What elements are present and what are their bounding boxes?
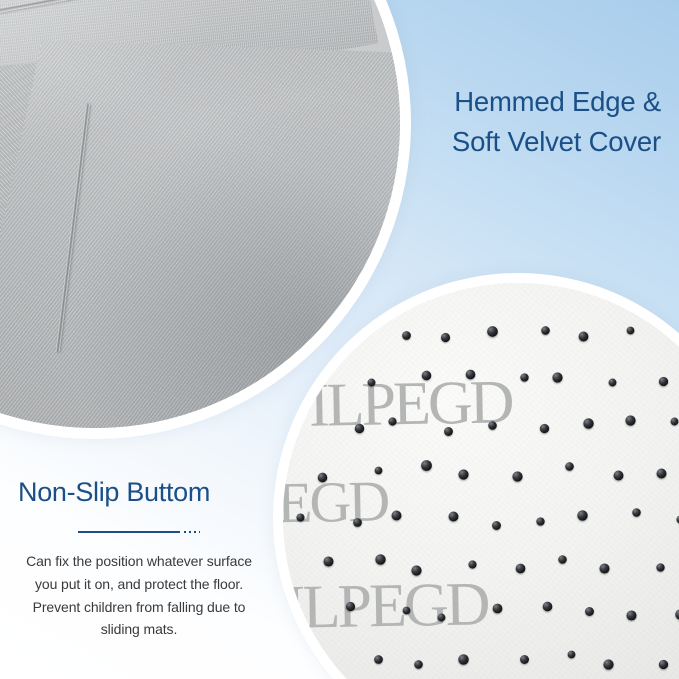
non-slip-dot <box>656 564 664 572</box>
non-slip-dot <box>516 563 526 573</box>
non-slip-heading: Non-Slip Buttom <box>8 476 270 508</box>
non-slip-dot <box>367 378 375 386</box>
non-slip-body-line: you put it on, and protect the floor. <box>8 573 270 596</box>
non-slip-dot <box>487 326 498 337</box>
non-slip-dot <box>578 332 588 342</box>
non-slip-text-block: Non-Slip Buttom Can fix the position wha… <box>8 476 270 641</box>
non-slip-dot <box>537 517 545 525</box>
non-slip-dot <box>318 473 328 483</box>
hemmed-edge-heading-line-2: Soft Velvet Cover <box>341 122 661 162</box>
non-slip-dot <box>324 556 334 566</box>
non-slip-dot <box>625 415 635 425</box>
non-slip-dot <box>391 511 401 521</box>
non-slip-dot <box>603 660 613 670</box>
non-slip-dot <box>614 470 624 480</box>
non-slip-dot <box>444 427 453 436</box>
non-slip-dot <box>552 373 562 383</box>
divider <box>8 522 270 544</box>
hemmed-edge-heading-line-1: Hemmed Edge & <box>341 82 661 122</box>
non-slip-dot <box>421 370 431 380</box>
non-slip-dot <box>632 508 641 517</box>
non-slip-dot <box>355 423 365 433</box>
non-slip-dot <box>513 472 523 482</box>
non-slip-dot <box>659 377 668 386</box>
non-slip-dot <box>346 602 355 611</box>
non-slip-dot <box>521 373 529 381</box>
non-slip-dot <box>437 613 445 621</box>
non-slip-dot <box>458 654 469 665</box>
non-slip-dot <box>565 462 574 471</box>
non-slip-dot-pattern <box>283 283 679 679</box>
non-slip-dot <box>541 326 550 335</box>
non-slip-dot <box>441 333 450 342</box>
non-slip-dot <box>375 467 383 475</box>
non-slip-dot <box>353 518 362 527</box>
non-slip-dot <box>542 602 552 612</box>
non-slip-dot <box>297 513 305 521</box>
non-slip-dot <box>657 469 667 479</box>
non-slip-dot <box>540 424 549 433</box>
non-slip-dot <box>520 655 529 664</box>
non-slip-dot <box>626 326 634 334</box>
non-slip-dot <box>600 563 610 573</box>
divider-dots <box>184 531 200 533</box>
non-slip-dot <box>412 565 422 575</box>
non-slip-dot <box>577 510 587 520</box>
non-slip-dot <box>671 418 679 426</box>
non-slip-dot <box>492 521 501 530</box>
non-slip-body-line: Can fix the position whatever surface <box>8 550 270 573</box>
non-slip-dot <box>568 651 576 659</box>
non-slip-dot <box>388 418 396 426</box>
non-slip-dot <box>458 469 468 479</box>
non-slip-dot <box>421 461 432 472</box>
non-slip-dot <box>374 655 383 664</box>
non-slip-dot <box>583 418 593 428</box>
non-slip-dot <box>488 421 497 430</box>
product-feature-graphic: ILPEGD ILPEGD ILPEGD Hemmed Edge & Soft … <box>0 0 679 679</box>
non-slip-dot <box>627 611 637 621</box>
non-slip-dot <box>402 331 411 340</box>
divider-line <box>78 531 180 533</box>
non-slip-dot <box>448 511 458 521</box>
non-slip-dot <box>559 555 568 564</box>
non-slip-dot <box>585 607 594 616</box>
non-slip-backing-photo: ILPEGD ILPEGD ILPEGD <box>283 283 679 679</box>
non-slip-body-line: sliding mats. <box>8 618 270 641</box>
non-slip-dot <box>493 604 503 614</box>
non-slip-body-line: Prevent children from falling due to <box>8 596 270 619</box>
non-slip-dot <box>609 378 617 386</box>
non-slip-dot <box>659 659 668 668</box>
non-slip-dot <box>468 561 476 569</box>
non-slip-dot <box>375 555 385 565</box>
non-slip-dot <box>466 370 476 380</box>
hemmed-edge-heading: Hemmed Edge & Soft Velvet Cover <box>341 82 661 162</box>
non-slip-dot <box>402 607 410 615</box>
non-slip-dot <box>414 660 423 669</box>
non-slip-body-text: Can fix the position whatever surfaceyou… <box>8 550 270 641</box>
